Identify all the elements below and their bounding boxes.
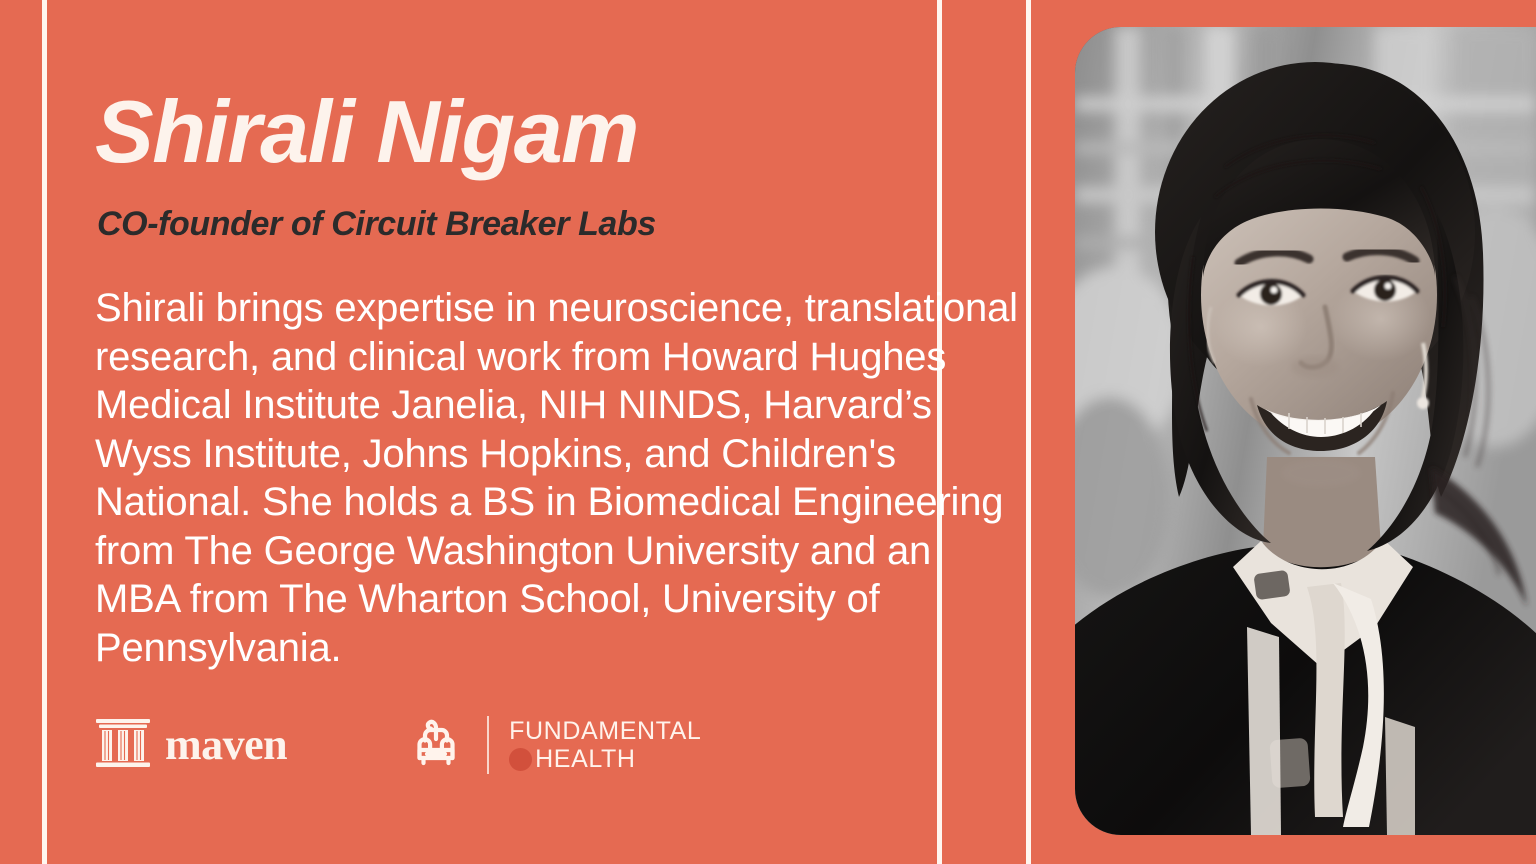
logo-divider bbox=[487, 716, 489, 774]
fh-line-fundamental: FUNDAMENTAL bbox=[509, 719, 701, 744]
fundamental-health-wordmark: FUNDAMENTAL HEALTH bbox=[509, 719, 701, 772]
page-title: Shirali Nigam bbox=[95, 88, 638, 176]
fundamental-health-logo[interactable]: FUNDAMENTAL HEALTH bbox=[405, 712, 701, 779]
speaker-card: Shirali Nigam CO-founder of Circuit Brea… bbox=[0, 0, 1536, 864]
classical-column-icon bbox=[95, 717, 151, 774]
role-subtitle: CO-founder of Circuit Breaker Labs bbox=[97, 206, 656, 243]
fh-line-health-row: HEALTH bbox=[509, 747, 701, 772]
maven-wordmark: maven bbox=[165, 723, 287, 767]
speaker-portrait-photo bbox=[1075, 27, 1536, 835]
accent-dot-icon bbox=[509, 748, 532, 771]
armchair-icon bbox=[405, 712, 467, 779]
text-column: Shirali Nigam CO-founder of Circuit Brea… bbox=[95, 0, 1015, 864]
bio-paragraph: Shirali brings expertise in neuroscience… bbox=[95, 284, 1020, 672]
fh-line-health: HEALTH bbox=[535, 747, 635, 772]
maven-logo[interactable]: maven bbox=[95, 717, 287, 774]
logo-row: maven bbox=[95, 712, 701, 778]
